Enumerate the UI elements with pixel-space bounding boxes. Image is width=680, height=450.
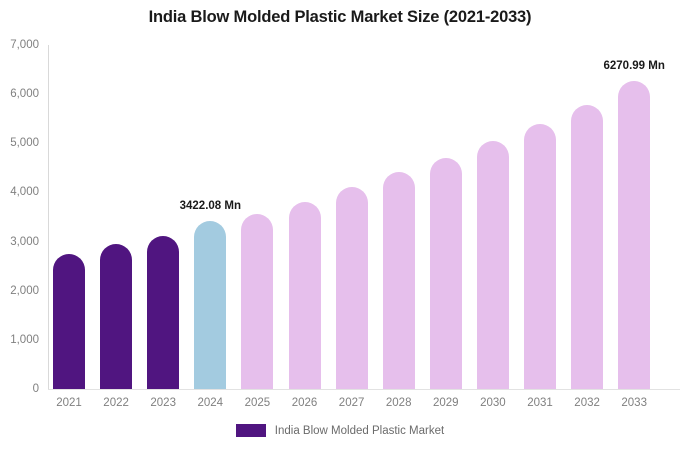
bar-2033[interactable] <box>618 81 650 389</box>
bar-2031[interactable] <box>524 124 556 389</box>
y-axis-tick-label: 6,000 <box>0 88 39 100</box>
y-axis-tick-label: 2,000 <box>0 285 39 297</box>
bar-2025[interactable] <box>241 214 273 389</box>
y-axis-tick-label: 7,000 <box>0 39 39 51</box>
bar-2026[interactable] <box>289 202 321 389</box>
x-axis-baseline <box>48 389 680 390</box>
y-axis-tick-label: 5,000 <box>0 137 39 149</box>
value-label-2024: 3422.08 Mn <box>180 200 241 212</box>
value-label-2033: 6270.99 Mn <box>604 60 665 72</box>
plot-area: 01,0002,0003,0004,0005,0006,0007,0002021… <box>48 45 680 389</box>
bar-2023[interactable] <box>147 236 179 389</box>
y-axis-tick-label: 3,000 <box>0 236 39 248</box>
y-axis-tick-label: 1,000 <box>0 334 39 346</box>
bar-2032[interactable] <box>571 105 603 389</box>
y-axis-tick-label: 0 <box>0 383 39 395</box>
bar-2021[interactable] <box>53 254 85 389</box>
x-axis-tick-label: 2033 <box>604 397 664 409</box>
bar-2022[interactable] <box>100 244 132 389</box>
bar-2029[interactable] <box>430 158 462 389</box>
y-axis-tick-label: 4,000 <box>0 186 39 198</box>
bar-2027[interactable] <box>336 187 368 389</box>
legend-swatch <box>236 424 266 437</box>
bar-2030[interactable] <box>477 141 509 389</box>
chart-container: India Blow Molded Plastic Market Size (2… <box>0 0 680 450</box>
chart-legend: India Blow Molded Plastic Market <box>0 424 680 437</box>
bar-2024[interactable] <box>194 221 226 389</box>
legend-label: India Blow Molded Plastic Market <box>275 425 444 437</box>
bar-2028[interactable] <box>383 172 415 389</box>
y-axis-line <box>48 45 49 389</box>
chart-title: India Blow Molded Plastic Market Size (2… <box>0 8 680 27</box>
